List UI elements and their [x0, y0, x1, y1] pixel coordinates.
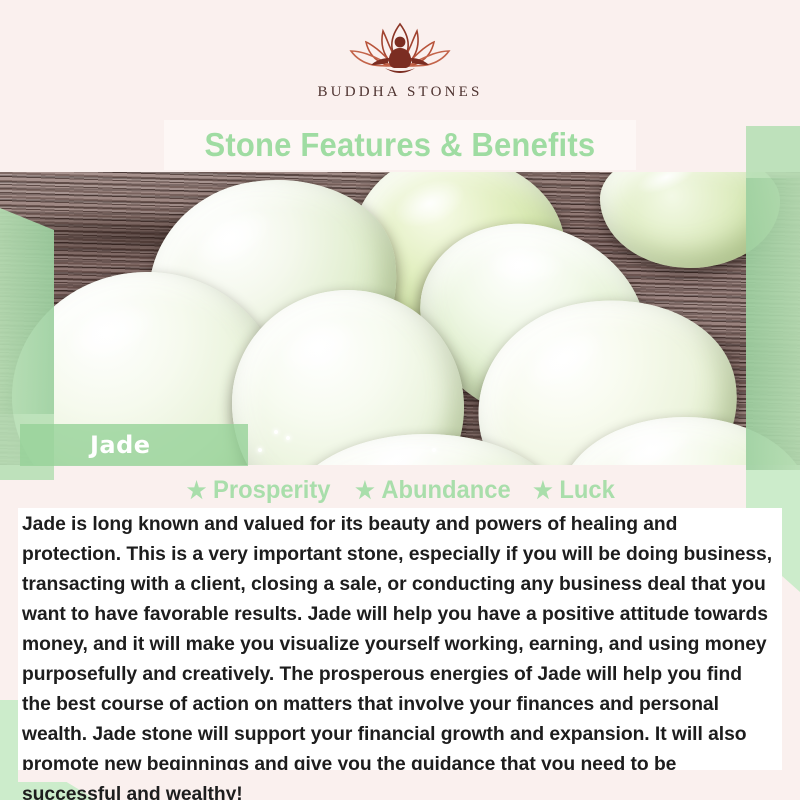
- sparkle-icon: [432, 448, 436, 452]
- brand-name: BUDDHA STONES: [317, 84, 482, 101]
- product-info-card: BUDDHA STONES Stone Features & Benefits …: [0, 0, 800, 800]
- description-panel: Jade is long known and valued for its be…: [18, 508, 782, 778]
- stone-name-bar: Jade: [20, 424, 248, 466]
- section-title-banner: Stone Features & Benefits: [164, 120, 636, 170]
- benefit-item: ★ Prosperity: [187, 476, 331, 505]
- benefit-label: Luck: [559, 476, 614, 505]
- page-title: Stone Features & Benefits: [205, 126, 596, 164]
- panel-bottom-spacer: [18, 770, 782, 782]
- sparkle-icon: [286, 436, 290, 440]
- brand-header: BUDDHA STONES: [0, 0, 800, 118]
- decor-green-right-upper: [746, 126, 800, 178]
- decor-green-left-tall: [0, 208, 54, 414]
- benefit-label: Prosperity: [214, 476, 331, 505]
- star-icon: ★: [533, 479, 553, 502]
- benefit-item: ★ Abundance: [355, 476, 511, 505]
- benefits-row: ★ Prosperity ★ Abundance ★ Luck: [0, 472, 800, 508]
- lotus-meditation-logo-icon: [325, 18, 475, 80]
- stone-name: Jade: [90, 431, 151, 459]
- sparkle-icon: [258, 448, 262, 452]
- benefit-item: ★ Luck: [533, 476, 615, 505]
- description-text: Jade is long known and valued for its be…: [18, 510, 782, 800]
- stone-photo: [0, 172, 800, 465]
- sparkle-icon: [274, 430, 278, 434]
- star-icon: ★: [187, 479, 207, 502]
- star-icon: ★: [355, 479, 375, 502]
- decor-green-right-tall: [746, 178, 800, 470]
- benefit-label: Abundance: [381, 476, 510, 505]
